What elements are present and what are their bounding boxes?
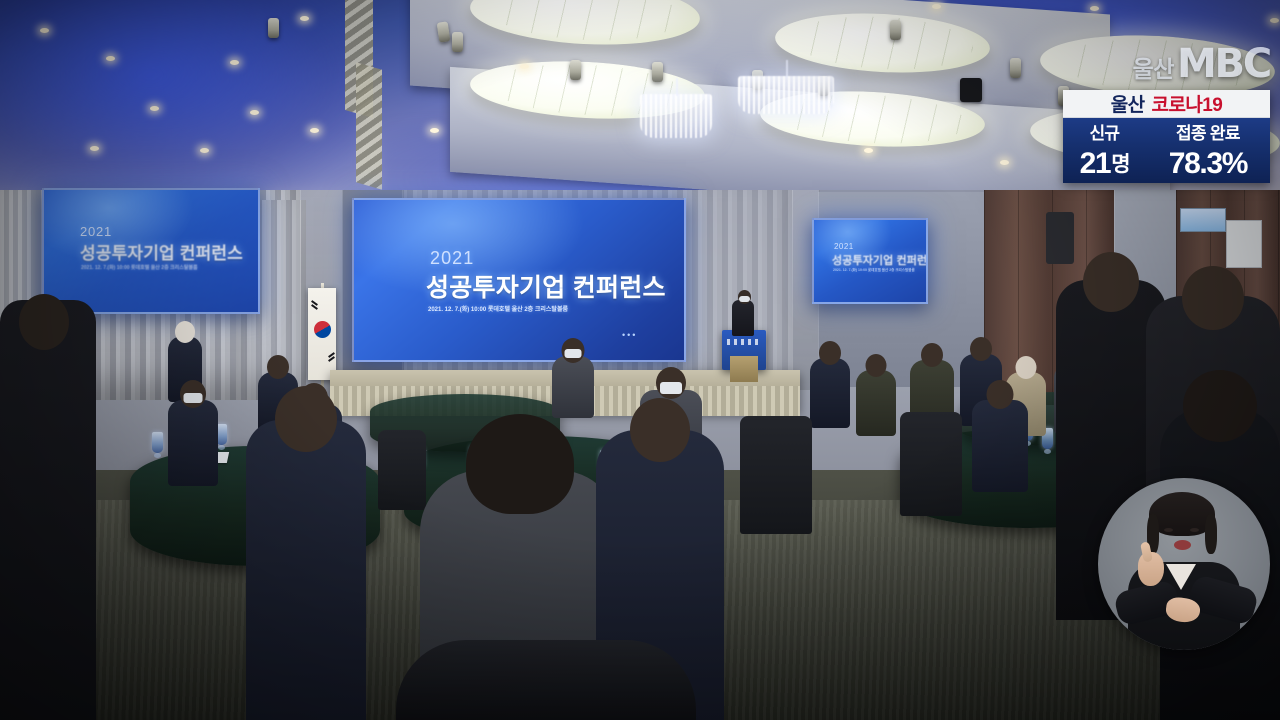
attendee	[168, 400, 218, 486]
attendee	[552, 356, 594, 418]
station-region: 울산	[1133, 50, 1174, 84]
slide-title: 성공투자기업 컨퍼런스	[80, 239, 243, 264]
slide-dots: •••	[622, 330, 637, 340]
slide-year: 2021	[80, 224, 112, 239]
covid-labels-row: 신규 접종 완료	[1063, 118, 1270, 145]
water-glass	[152, 432, 163, 453]
covid-value-new-unit: 명	[1111, 154, 1129, 175]
slide-year: 2021	[430, 248, 474, 269]
covid-region: 울산	[1111, 90, 1145, 117]
slide-title: 성공투자기업 컨퍼런스	[426, 268, 666, 304]
chair	[900, 412, 962, 516]
covid-value-new: 21명	[1063, 145, 1146, 183]
chandelier	[738, 76, 834, 114]
covid-value-vaccinated: 78.3%	[1146, 145, 1270, 183]
chair	[740, 416, 812, 534]
chair	[378, 430, 426, 510]
podium-base	[730, 356, 758, 382]
speaker-mask	[739, 296, 750, 302]
covid-label-vaccinated: 접종 완료	[1146, 118, 1270, 145]
speaker-at-podium	[732, 300, 754, 336]
covid-disease: 코로나19	[1152, 90, 1223, 117]
slide-subtitle: 2021. 12. 7.(화) 10:00 롯데호텔 울산 2층 크리스탈볼룸	[81, 264, 198, 271]
covid-header: 울산 코로나19	[1063, 90, 1270, 118]
slide-subtitle: 2021. 12. 7.(화) 10:00 롯데호텔 울산 2층 크리스탈볼룸	[428, 304, 568, 313]
broadcast-frame: 2021 성공투자기업 컨퍼런스 2021. 12. 7.(화) 10:00 롯…	[0, 0, 1280, 720]
covid-values-row: 21명 78.3%	[1063, 145, 1270, 183]
covid-label-new: 신규	[1063, 118, 1146, 145]
attendee	[972, 400, 1028, 492]
projection-screen-main: 2021 성공투자기업 컨퍼런스 2021. 12. 7.(화) 10:00 롯…	[352, 198, 686, 362]
slide-title: 성공투자기업 컨퍼런스	[832, 252, 928, 268]
projection-screen-left: 2021 성공투자기업 컨퍼런스 2021. 12. 7.(화) 10:00 롯…	[42, 188, 260, 314]
station-logo: 울산 MBC	[1133, 46, 1270, 84]
station-network: MBC	[1177, 46, 1270, 82]
projection-screen-right: 2021 성공투자기업 컨퍼런스 2021. 12. 7.(화) 10:00 롯…	[812, 218, 928, 304]
slide-subtitle: 2021. 12. 7.(화) 10:00 롯데호텔 울산 2층 크리스탈볼룸	[833, 268, 915, 273]
chandelier	[640, 94, 712, 138]
covid-value-new-number: 21	[1080, 149, 1111, 179]
covid-info-box: 울산 코로나19 신규 접종 완료 21명 78.3%	[1063, 90, 1270, 183]
slide-year: 2021	[834, 242, 854, 251]
attendee	[810, 358, 850, 428]
attendee	[856, 370, 896, 436]
lower-third: 뉴스 데스크 성공투자기업 학술회의 개최‥지역 투자 활성화 방안 논의	[0, 560, 1280, 720]
podium-marks	[727, 339, 761, 345]
